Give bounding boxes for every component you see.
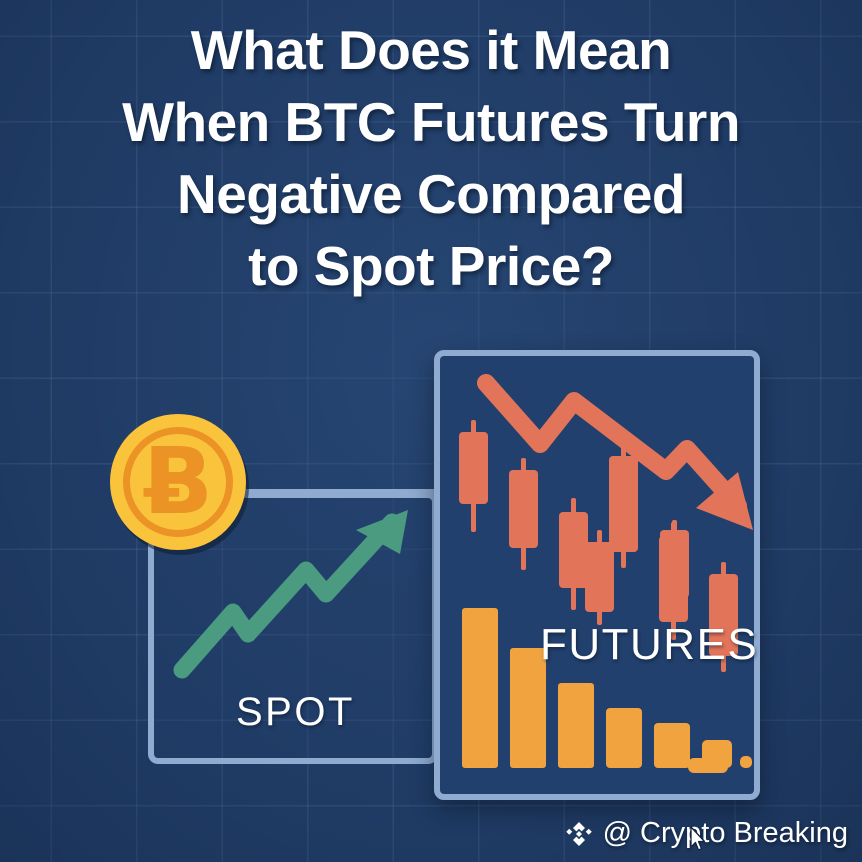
futures-falling-arrow-icon [470, 370, 760, 545]
page-title: What Does it Mean When BTC Futures Turn … [0, 14, 862, 302]
watermark-handle: @ Crypto Breaking [603, 817, 848, 850]
bitcoin-coin-icon: Ƀ [110, 414, 246, 550]
title-line-2: When BTC Futures Turn [0, 86, 862, 158]
futures-bar-chart-last-bar [688, 752, 732, 774]
futures-label: FUTURES [540, 620, 758, 670]
title-line-3: Negative Compared [0, 158, 862, 230]
spot-label: SPOT [236, 690, 355, 735]
title-line-4: to Spot Price? [0, 230, 862, 302]
title-line-1: What Does it Mean [0, 14, 862, 86]
bitcoin-b-symbol: Ƀ [110, 414, 246, 550]
infographic-canvas: What Does it Mean When BTC Futures Turn … [0, 0, 862, 862]
mouse-cursor-icon [689, 826, 707, 852]
binance-diamond-logo-icon [564, 819, 594, 849]
